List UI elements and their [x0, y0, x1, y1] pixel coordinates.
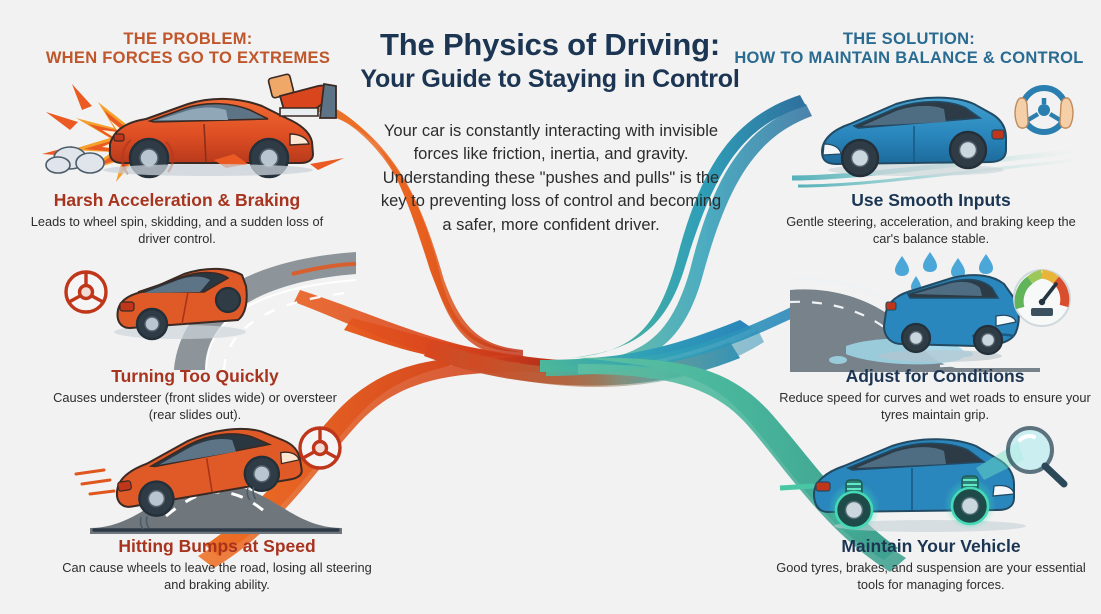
left-hand-icon	[1015, 98, 1028, 128]
page-title: The Physics of Driving: Your Guide to St…	[330, 28, 770, 93]
item-use-smooth-inputs-text: Use Smooth Inputs Gentle steering, accel…	[776, 190, 1086, 248]
solution-header: THE SOLUTION: HOW TO MAINTAIN BALANCE & …	[729, 30, 1089, 69]
item-description: Can cause wheels to leave the road, losi…	[62, 559, 372, 594]
item-description: Causes understeer (front slides wide) or…	[40, 389, 350, 424]
item-title: Adjust for Conditions	[776, 366, 1094, 387]
item-maintain-your-vehicle-text: Maintain Your Vehicle Good tyres, brakes…	[772, 536, 1090, 594]
flame-streak-icon	[310, 158, 344, 170]
item-harsh-acceleration-text: Harsh Acceleration & Braking Leads to wh…	[22, 190, 332, 248]
infographic-canvas: THE PROBLEM: WHEN FORCES GO TO EXTREMES …	[0, 0, 1101, 614]
scene-use-smooth-inputs	[792, 74, 1092, 194]
problem-header-line1: THE PROBLEM:	[123, 30, 252, 48]
steering-wheel-icon	[300, 428, 340, 468]
scene-adjust-for-conditions	[790, 250, 1090, 372]
blue-car-icon	[822, 98, 1006, 176]
teal-trail-icon	[780, 486, 814, 488]
speedometer-gauge-icon	[1014, 270, 1070, 326]
problem-header: THE PROBLEM: WHEN FORCES GO TO EXTREMES	[18, 30, 358, 69]
item-title: Use Smooth Inputs	[776, 190, 1086, 211]
scene-hitting-bumps	[70, 424, 362, 542]
item-title: Maintain Your Vehicle	[772, 536, 1090, 557]
item-title: Harsh Acceleration & Braking	[22, 190, 332, 211]
right-hand-icon	[1060, 98, 1073, 128]
scene-maintain-your-vehicle	[780, 424, 1090, 542]
hands-on-steering-wheel-icon	[1015, 88, 1073, 132]
item-description: Reduce speed for curves and wet roads to…	[776, 389, 1094, 424]
item-adjust-for-conditions-text: Adjust for Conditions Reduce speed for c…	[776, 366, 1094, 424]
scene-turning-too-quickly	[56, 248, 356, 370]
steering-wheel-icon	[66, 272, 106, 312]
item-turning-too-quickly-text: Turning Too Quickly Causes understeer (f…	[40, 366, 350, 424]
orange-car-icon	[114, 269, 247, 339]
item-description: Good tyres, brakes, and suspension are y…	[772, 559, 1090, 594]
item-title: Turning Too Quickly	[40, 366, 350, 387]
item-description: Leads to wheel spin, skidding, and a sud…	[22, 213, 332, 248]
solution-header-line1: THE SOLUTION:	[843, 30, 975, 48]
item-description: Gentle steering, acceleration, and braki…	[776, 213, 1086, 248]
title-main: The Physics of Driving:	[330, 28, 770, 63]
intro-paragraph: Your car is constantly interacting with …	[376, 120, 726, 237]
title-subtitle: Your Guide to Staying in Control	[330, 65, 770, 94]
car-shadow	[103, 164, 313, 176]
problem-header-line2: WHEN FORCES GO TO EXTREMES	[18, 49, 358, 68]
item-title: Hitting Bumps at Speed	[62, 536, 372, 557]
speed-lines-icon	[76, 470, 114, 494]
scene-harsh-acceleration	[18, 72, 348, 192]
solution-header-line2: HOW TO MAINTAIN BALANCE & CONTROL	[729, 49, 1089, 68]
item-hitting-bumps-text: Hitting Bumps at Speed Can cause wheels …	[62, 536, 372, 594]
